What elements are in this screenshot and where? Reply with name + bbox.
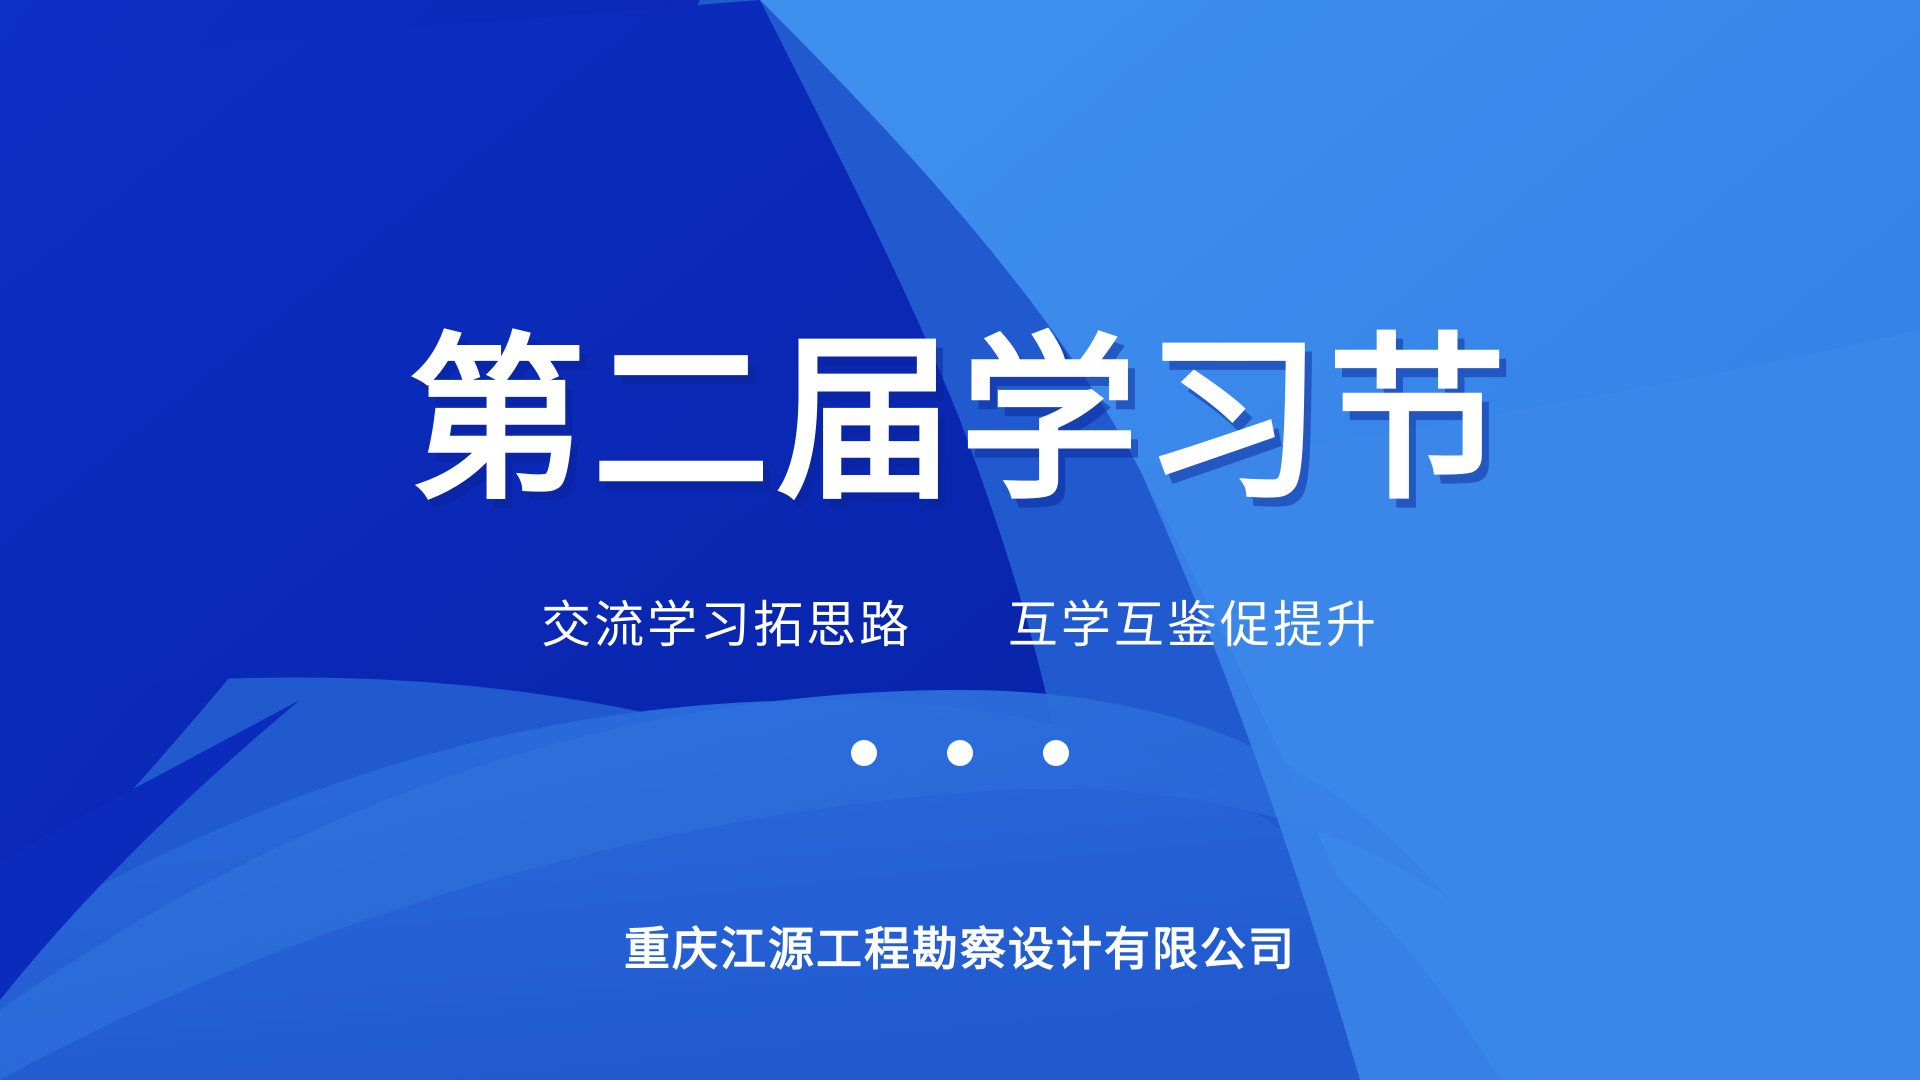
dot-icon xyxy=(1043,740,1069,766)
poster-canvas: 第二届学习节 交流学习拓思路 互学互鉴促提升 重庆江源工程勘察设计有限公司 xyxy=(0,0,1920,1080)
page-title: 第二届学习节 xyxy=(0,332,1920,510)
subtitle-right-text: 互学互鉴促提升 xyxy=(1008,597,1379,653)
decorative-dots xyxy=(0,740,1920,766)
subtitle-line: 交流学习拓思路 互学互鉴促提升 xyxy=(0,600,1920,650)
poster-content: 第二届学习节 交流学习拓思路 互学互鉴促提升 重庆江源工程勘察设计有限公司 xyxy=(0,0,1920,1080)
dot-icon xyxy=(947,740,973,766)
dot-icon xyxy=(851,740,877,766)
organization-name: 重庆江源工程勘察设计有限公司 xyxy=(0,926,1920,972)
subtitle-left-text: 交流学习拓思路 xyxy=(541,597,912,653)
